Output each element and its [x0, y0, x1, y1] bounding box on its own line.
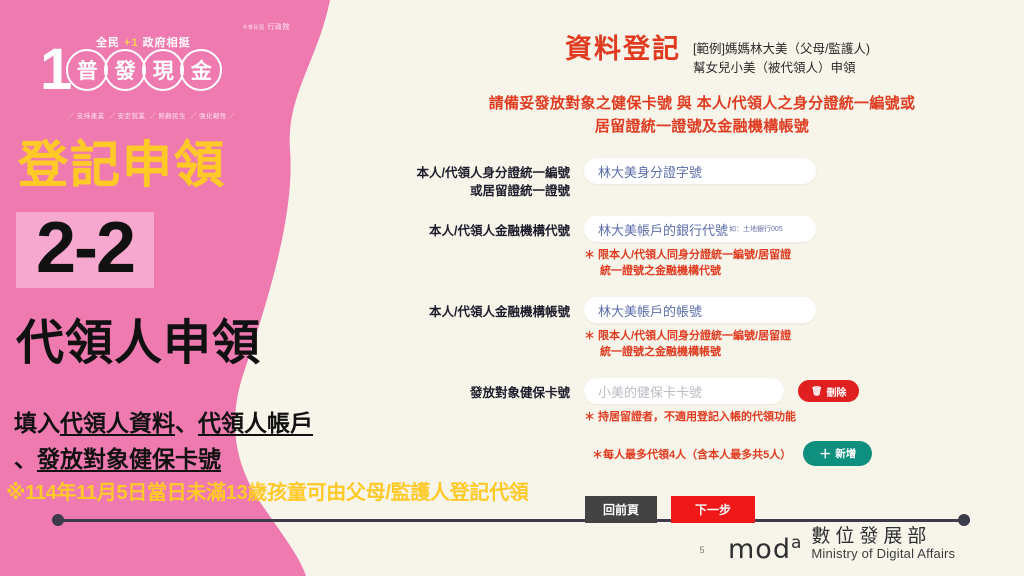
field-bank-account-body: 林大美帳戶的帳號 ＊限本人/代領人同身分證統一編號/居留證 統一證號之金融機構帳…	[584, 297, 816, 361]
back-button[interactable]: 回前頁	[585, 496, 657, 523]
section-heading: 代領人申領	[16, 320, 261, 368]
field-id-number-label-line1: 本人/代領人身分證統一編號	[380, 164, 570, 182]
lead-line-2: 居留證統一證號及金融機構帳號	[380, 116, 1024, 139]
field-health-card: 發放對象健保卡號 小美的健保卡卡號 🗑 刪除 ＊持居留證者，不適用登記入帳的代領…	[380, 378, 859, 426]
plus-icon: ＋	[819, 445, 831, 462]
add-note: ＊每人最多代領4人（含本人最多共5人）	[592, 446, 791, 462]
add-button[interactable]: ＋ 新增	[803, 441, 872, 466]
field-id-number-label-line2: 或居留證統一證號	[380, 182, 570, 200]
logo-circle-1: 普	[66, 49, 108, 91]
field-bank-code-label-line1: 本人/代領人金融機構代號	[380, 222, 570, 240]
bank-account-input[interactable]: 林大美帳戶的帳號	[584, 297, 816, 323]
desc-1d: 代領人帳戶	[198, 410, 313, 436]
field-health-card-label-line1: 發放對象健保卡號	[380, 384, 570, 402]
form-title-row: 資料登記 [範例]媽媽林大美（父母/監護人) 幫女兒小美（被代領人）申領	[565, 36, 870, 78]
field-bank-account-label: 本人/代領人金融機構帳號	[380, 297, 570, 321]
logo-sub-2: 安定就業	[118, 113, 146, 120]
description-line-2: 、發放對象健保卡號	[14, 440, 221, 474]
bank-account-warning: ＊限本人/代領人同身分證統一編號/居留證 統一證號之金融機構帳號	[584, 329, 816, 361]
logo-circle-4: 金	[180, 49, 222, 91]
health-card-warning-line1: 持居留證者，不適用登記入帳的代領功能	[598, 411, 796, 423]
nav-button-row: 回前頁 下一步	[585, 496, 755, 523]
slide-canvas: 中華民國行政院 全民 +1 政府相挺 1 普 發 現 金 ／支持產業 ／安定就業…	[0, 0, 1024, 576]
example-line-1: [範例]媽媽林大美（父母/監護人)	[693, 40, 870, 59]
gov-label: 中華民國行政院	[242, 22, 290, 32]
desc-2b: 發放對象健保卡號	[37, 446, 221, 472]
page-title: 登記申領	[18, 140, 226, 190]
step-number: 2-2	[36, 214, 134, 282]
timeline-dot-left	[52, 514, 64, 526]
field-bank-account-label-line1: 本人/代領人金融機構帳號	[380, 303, 570, 321]
logo-subtitle-row: ／支持產業 ／安定就業 ／照顧民生 ／強化韌性／	[68, 110, 236, 120]
field-bank-code: 本人/代領人金融機構代號 林大美帳戶的銀行代號 如：土地銀行005 ＊限本人/代…	[380, 216, 816, 280]
add-row: ＊每人最多代領4人（含本人最多共5人） ＋ 新增	[592, 441, 872, 466]
form-example: [範例]媽媽林大美（父母/監護人) 幫女兒小美（被代領人）申領	[693, 36, 870, 78]
moda-sup-a: a	[791, 533, 802, 553]
gov-name: 行政院	[268, 24, 291, 31]
moda-mark-text: mod	[728, 534, 791, 565]
example-line-2: 幫女兒小美（被代領人）申領	[693, 59, 870, 78]
moda-wordmark: moda	[728, 537, 802, 563]
id-number-input-placeholder: 林大美身分證字號	[598, 162, 702, 181]
ministry-name-block: 數位發展部 Ministry of Digital Affairs	[811, 527, 955, 562]
field-health-card-body: 小美的健保卡卡號 🗑 刪除 ＊持居留證者，不適用登記入帳的代領功能	[584, 378, 859, 426]
step-number-badge: 2-2	[16, 212, 154, 288]
delete-button[interactable]: 🗑 刪除	[798, 380, 859, 402]
desc-1b: 代領人資料	[60, 410, 175, 436]
health-card-row: 小美的健保卡卡號 🗑 刪除	[584, 378, 859, 404]
desc-1c: 、	[175, 410, 198, 436]
asterisk-icon: ＊	[584, 330, 595, 342]
gov-small-label: 中華民國	[242, 25, 264, 31]
bank-account-input-placeholder: 林大美帳戶的帳號	[598, 301, 702, 320]
bank-code-input-placeholder: 林大美帳戶的銀行代號	[598, 220, 728, 239]
field-health-card-label: 發放對象健保卡號	[380, 378, 570, 402]
health-card-input[interactable]: 小美的健保卡卡號	[584, 378, 784, 404]
field-id-number-label: 本人/代領人身分證統一編號 或居留證統一證號	[380, 158, 570, 200]
bank-code-warning-line1: 限本人/代領人同身分證統一編號/居留證	[598, 249, 791, 261]
bank-code-input[interactable]: 林大美帳戶的銀行代號 如：土地銀行005	[584, 216, 816, 242]
logo-circle-3: 現	[142, 49, 184, 91]
field-id-number: 本人/代領人身分證統一編號 或居留證統一證號 林大美身分證字號	[380, 158, 816, 200]
field-bank-code-label: 本人/代領人金融機構代號	[380, 216, 570, 240]
field-id-number-body: 林大美身分證字號	[584, 158, 816, 184]
health-card-input-placeholder: 小美的健保卡卡號	[598, 382, 702, 401]
health-card-warning: ＊持居留證者，不適用登記入帳的代領功能	[584, 410, 859, 426]
logo-circle-2: 發	[104, 49, 146, 91]
asterisk-icon: ＊	[584, 249, 595, 261]
desc-1a: 填入	[14, 410, 60, 436]
ministry-name-en: Ministry of Digital Affairs	[811, 547, 955, 561]
description-line-1: 填入代領人資料、代領人帳戶	[14, 404, 313, 438]
id-number-input[interactable]: 林大美身分證字號	[584, 158, 816, 184]
desc-2a: 、	[14, 446, 37, 472]
bank-code-warning-line2: 統一證號之金融機構代號	[584, 264, 816, 280]
moda-logo: moda 數位發展部 Ministry of Digital Affairs	[728, 527, 955, 562]
bank-account-warning-line1: 限本人/代領人同身分證統一編號/居留證	[598, 330, 791, 342]
field-bank-account: 本人/代領人金融機構帳號 林大美帳戶的帳號 ＊限本人/代領人同身分證統一編號/居…	[380, 297, 816, 361]
add-button-label: 新增	[835, 446, 856, 461]
logo-sub-3: 照顧民生	[158, 113, 186, 120]
ministry-name-cn: 數位發展部	[811, 527, 955, 547]
form-lead: 請備妥發放對象之健保卡號 與 本人/代領人之身分證統一編號或 居留證統一證號及金…	[380, 93, 1024, 138]
field-bank-code-body: 林大美帳戶的銀行代號 如：土地銀行005 ＊限本人/代領人同身分證統一編號/居留…	[584, 216, 816, 280]
bank-account-warning-line2: 統一證號之金融機構帳號	[584, 345, 816, 361]
lead-line-1: 請備妥發放對象之健保卡號 與 本人/代領人之身分證統一編號或	[380, 93, 1024, 116]
campaign-logo: 中華民國行政院 全民 +1 政府相挺 1 普 發 現 金 ／支持產業 ／安定就業…	[30, 22, 310, 118]
delete-button-label: 刪除	[826, 384, 846, 399]
form-panel: 資料登記 [範例]媽媽林大美（父母/監護人) 幫女兒小美（被代領人）申領 請備妥…	[380, 0, 1024, 576]
logo-sub-1: 支持產業	[77, 113, 105, 120]
asterisk-icon: ＊	[584, 411, 595, 423]
trash-icon: 🗑	[811, 386, 822, 397]
next-button[interactable]: 下一步	[671, 496, 755, 523]
logo-main-mark: 1 普 發 現 金	[40, 44, 222, 96]
bank-code-warning: ＊限本人/代領人同身分證統一編號/居留證 統一證號之金融機構代號	[584, 248, 816, 280]
logo-sub-4: 強化韌性	[199, 113, 227, 120]
bank-code-hint: 如：土地銀行005	[729, 224, 783, 234]
form-title: 資料登記	[565, 36, 681, 63]
